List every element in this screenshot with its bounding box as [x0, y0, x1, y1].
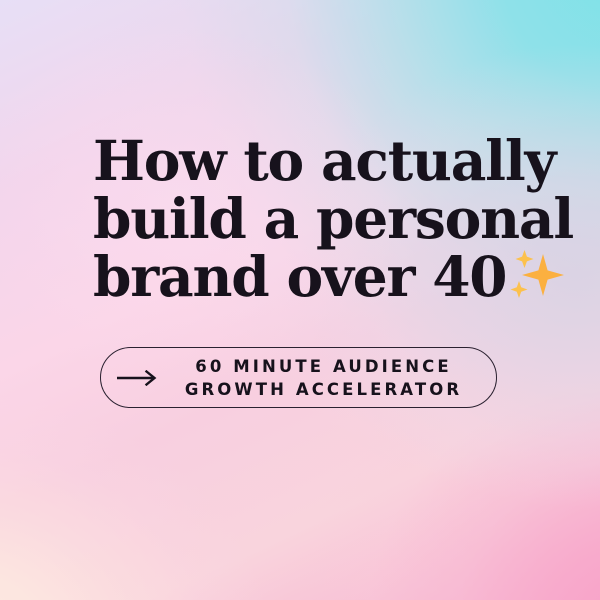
headline-line-1: How to actually	[93, 132, 523, 190]
headline-line-3: brand over 40	[93, 248, 506, 306]
headline-line-3-wrapper: brand over 40	[93, 248, 523, 306]
cta-button-label: 60 MINUTE AUDIENCE GROWTH ACCELERATOR	[165, 355, 496, 401]
arrow-right-icon	[113, 370, 165, 386]
cta-button[interactable]: 60 MINUTE AUDIENCE GROWTH ACCELERATOR	[100, 347, 497, 408]
page-title: How to actually build a personal brand o…	[93, 132, 523, 306]
poster-canvas: How to actually build a personal brand o…	[0, 0, 600, 600]
sparkles-icon	[505, 248, 567, 306]
headline-line-2: build a personal	[93, 190, 523, 248]
cta-label-line-2: GROWTH ACCELERATOR	[165, 378, 482, 401]
cta-label-line-1: 60 MINUTE AUDIENCE	[165, 355, 482, 378]
poster-content: How to actually build a personal brand o…	[0, 0, 600, 600]
